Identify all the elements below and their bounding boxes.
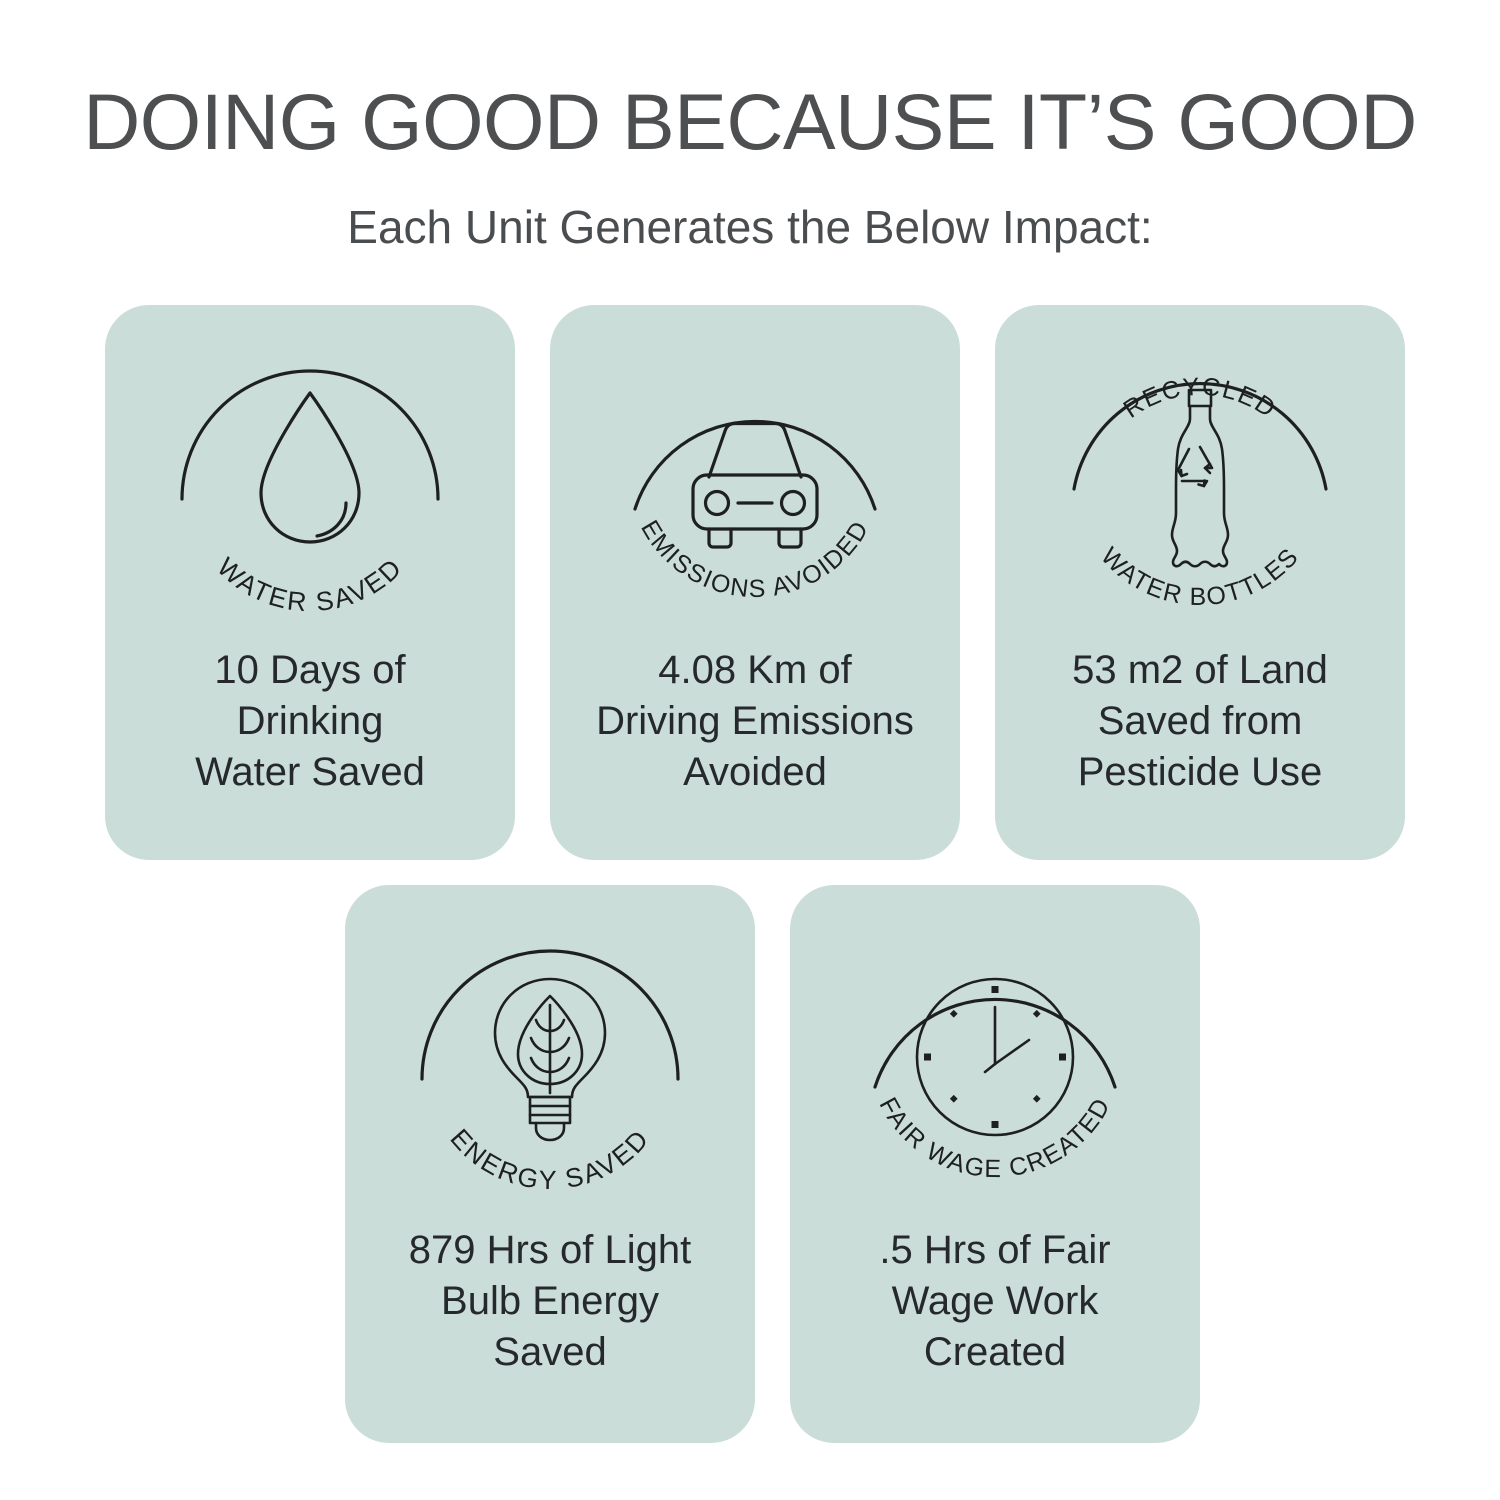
badge-fair-wage-created: FAIR WAGE CREATED (845, 907, 1145, 1207)
impact-card-row-1: WATER SAVED 10 Days of Drinking Water Sa… (105, 305, 1405, 860)
caption-emissions-avoided: 4.08 Km of Driving Emissions Avoided (590, 645, 920, 798)
lightbulb-leaf-icon (495, 979, 605, 1140)
caption-water-saved: 10 Days of Drinking Water Saved (181, 645, 439, 798)
impact-card-emissions-avoided[interactable]: EMISSIONS AVOIDED 4.08 Km of Driving Emi… (550, 305, 960, 860)
impact-card-row-2: ENERGY SAVED (345, 885, 1200, 1443)
clock-icon (917, 979, 1073, 1135)
badge-energy-saved: ENERGY SAVED (400, 907, 700, 1207)
badge-label-water-saved: WATER SAVED (211, 552, 408, 618)
recycled-bottle-icon (1172, 390, 1228, 566)
badge-label-energy-saved: ENERGY SAVED (445, 1123, 656, 1195)
badge-water-saved: WATER SAVED (160, 327, 460, 627)
caption-energy-saved: 879 Hrs of Light Bulb Energy Saved (403, 1225, 697, 1378)
impact-card-recycled-water-bottles[interactable]: RECYCLED WATER BOTTLES (995, 305, 1405, 860)
infographic-page: DOING GOOD BECAUSE IT’S GOOD Each Unit G… (0, 0, 1500, 1500)
impact-card-water-saved[interactable]: WATER SAVED 10 Days of Drinking Water Sa… (105, 305, 515, 860)
caption-recycled-water-bottles: 53 m2 of Land Saved from Pesticide Use (1066, 645, 1334, 798)
recycle-symbol-icon (1178, 447, 1212, 486)
badge-recycled-water-bottles: RECYCLED WATER BOTTLES (1050, 327, 1350, 627)
car-icon (693, 424, 817, 548)
page-title: DOING GOOD BECAUSE IT’S GOOD (0, 78, 1500, 166)
water-drop-icon (261, 393, 359, 542)
impact-card-fair-wage-created[interactable]: FAIR WAGE CREATED (790, 885, 1200, 1443)
badge-label-top-recycled: RECYCLED (1119, 373, 1282, 424)
page-subtitle: Each Unit Generates the Below Impact: (0, 199, 1500, 255)
badge-label-water-bottles: WATER BOTTLES (1095, 542, 1304, 611)
badge-label-fair-wage-created: FAIR WAGE CREATED (874, 1093, 1117, 1183)
badge-emissions-avoided: EMISSIONS AVOIDED (605, 327, 905, 627)
caption-fair-wage-created: .5 Hrs of Fair Wage Work Created (873, 1225, 1116, 1378)
impact-card-energy-saved[interactable]: ENERGY SAVED (345, 885, 755, 1443)
